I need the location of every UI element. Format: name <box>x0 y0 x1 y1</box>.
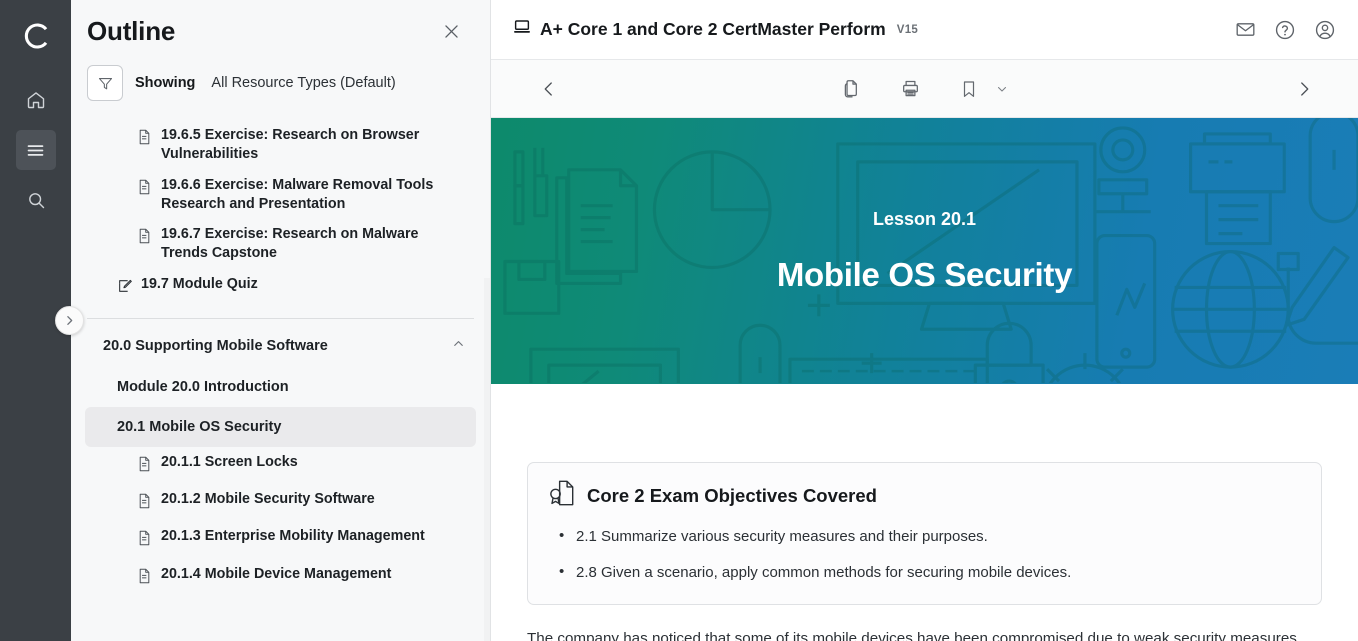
list-item[interactable]: 19.6.6 Exercise: Malware Removal Tools R… <box>137 170 476 220</box>
reader-toolbar <box>491 60 1358 118</box>
version-badge: V15 <box>897 24 918 36</box>
comptia-c-logo[interactable] <box>14 14 58 58</box>
exam-objectives-title: Core 2 Exam Objectives Covered <box>587 485 877 507</box>
outline-scroll-area: 19.6.5 Exercise: Research on Browser Vul… <box>71 120 490 641</box>
page-title: Outline <box>87 16 175 47</box>
search-icon[interactable] <box>16 180 56 220</box>
list-item[interactable]: 20.1.3 Enterprise Mobility Management <box>137 521 476 558</box>
section-divider <box>87 318 474 319</box>
filter-funnel-icon[interactable] <box>87 65 123 101</box>
certificate-document-icon <box>548 479 575 512</box>
document-icon <box>137 129 153 151</box>
lesson-hero-banner: Lesson 20.1 Mobile OS Security <box>491 118 1358 384</box>
bookmark-icon[interactable] <box>959 79 979 99</box>
outline-header: Outline <box>71 0 490 51</box>
module-label: 20.0 Supporting Mobile Software <box>103 338 328 354</box>
hero-lesson-title: Mobile OS Security <box>777 256 1072 294</box>
list-item-label: 19.7 Module Quiz <box>141 275 258 294</box>
list-item[interactable]: 19.6.7 Exercise: Research on Malware Tre… <box>137 219 476 269</box>
list-item-label: 20.1.1 Screen Locks <box>161 453 298 472</box>
outline-scrollbar-track[interactable] <box>484 278 490 641</box>
app-root: Outline Showing All Resource Types (Defa… <box>0 0 1358 641</box>
header-icon-group <box>1235 19 1336 41</box>
document-icon <box>137 456 153 478</box>
objective-item: 2.1 Summarize various security measures … <box>576 526 1301 548</box>
chevron-down-icon[interactable] <box>995 82 1009 96</box>
exam-objectives-header: Core 2 Exam Objectives Covered <box>548 479 1301 512</box>
outline-menu-icon[interactable] <box>16 130 56 170</box>
lesson-paragraph: The company has noticed that some of its… <box>527 627 1322 641</box>
list-item[interactable]: 19.7 Module Quiz <box>117 269 476 306</box>
mail-icon[interactable] <box>1235 19 1256 40</box>
list-item-label: 20.1.4 Mobile Device Management <box>161 565 391 584</box>
list-item-label: 20.1.2 Mobile Security Software <box>161 490 375 509</box>
quiz-pencil-icon <box>117 278 133 300</box>
course-header: A+ Core 1 and Core 2 CertMaster Perform … <box>491 0 1358 60</box>
lesson-label: 20.1 Mobile OS Security <box>117 419 281 435</box>
lesson-body: Core 2 Exam Objectives Covered 2.1 Summa… <box>491 462 1358 641</box>
hero-lesson-number: Lesson 20.1 <box>873 209 976 230</box>
document-icon <box>137 179 153 201</box>
chevron-up-icon[interactable] <box>451 336 466 356</box>
filter-row: Showing All Resource Types (Default) <box>71 51 490 113</box>
print-icon[interactable] <box>900 78 921 99</box>
exam-objectives-list: 2.1 Summarize various security measures … <box>548 526 1301 584</box>
list-item[interactable]: 20.1.2 Mobile Security Software <box>137 484 476 521</box>
list-item-label: 20.1.3 Enterprise Mobility Management <box>161 527 425 546</box>
home-icon[interactable] <box>16 80 56 120</box>
list-item-label: 19.6.7 Exercise: Research on Malware Tre… <box>161 225 468 263</box>
lesson-label: Module 20.0 Introduction <box>117 379 289 395</box>
outline-panel: Outline Showing All Resource Types (Defa… <box>71 0 491 641</box>
sidebar-item-module-intro[interactable]: Module 20.0 Introduction <box>85 367 476 407</box>
document-icon <box>137 568 153 590</box>
copy-icon[interactable] <box>841 78 862 99</box>
list-item-label: 19.6.6 Exercise: Malware Removal Tools R… <box>161 176 468 214</box>
course-title-group: A+ Core 1 and Core 2 CertMaster Perform … <box>513 18 918 41</box>
user-account-icon[interactable] <box>1314 19 1336 41</box>
course-title: A+ Core 1 and Core 2 CertMaster Perform <box>540 19 886 40</box>
main-content: A+ Core 1 and Core 2 CertMaster Perform … <box>491 0 1358 641</box>
document-icon <box>137 530 153 552</box>
help-circle-icon[interactable] <box>1274 19 1296 41</box>
expand-panel-button[interactable] <box>55 306 84 335</box>
book-reader-icon <box>513 18 531 41</box>
left-icon-rail <box>0 0 71 641</box>
sidebar-item-mobile-os-security[interactable]: 20.1 Mobile OS Security <box>85 407 476 447</box>
list-item[interactable]: 20.1.4 Mobile Device Management <box>137 559 476 596</box>
document-icon <box>137 493 153 515</box>
tech-pattern-background <box>491 118 1358 383</box>
exam-objectives-card: Core 2 Exam Objectives Covered 2.1 Summa… <box>527 462 1322 605</box>
objective-item: 2.8 Given a scenario, apply common metho… <box>576 562 1301 584</box>
list-item[interactable]: 20.1.1 Screen Locks <box>137 447 476 484</box>
close-icon[interactable] <box>436 17 466 47</box>
document-icon <box>137 228 153 250</box>
showing-value[interactable]: All Resource Types (Default) <box>211 75 395 91</box>
showing-label: Showing <box>135 75 195 91</box>
list-item-label: 19.6.5 Exercise: Research on Browser Vul… <box>161 126 468 164</box>
toolbar-actions <box>491 78 1358 99</box>
outline-module-header[interactable]: 20.0 Supporting Mobile Software <box>85 325 476 367</box>
outline-tree: 19.6.5 Exercise: Research on Browser Vul… <box>71 120 490 606</box>
list-item[interactable]: 19.6.5 Exercise: Research on Browser Vul… <box>137 120 476 170</box>
